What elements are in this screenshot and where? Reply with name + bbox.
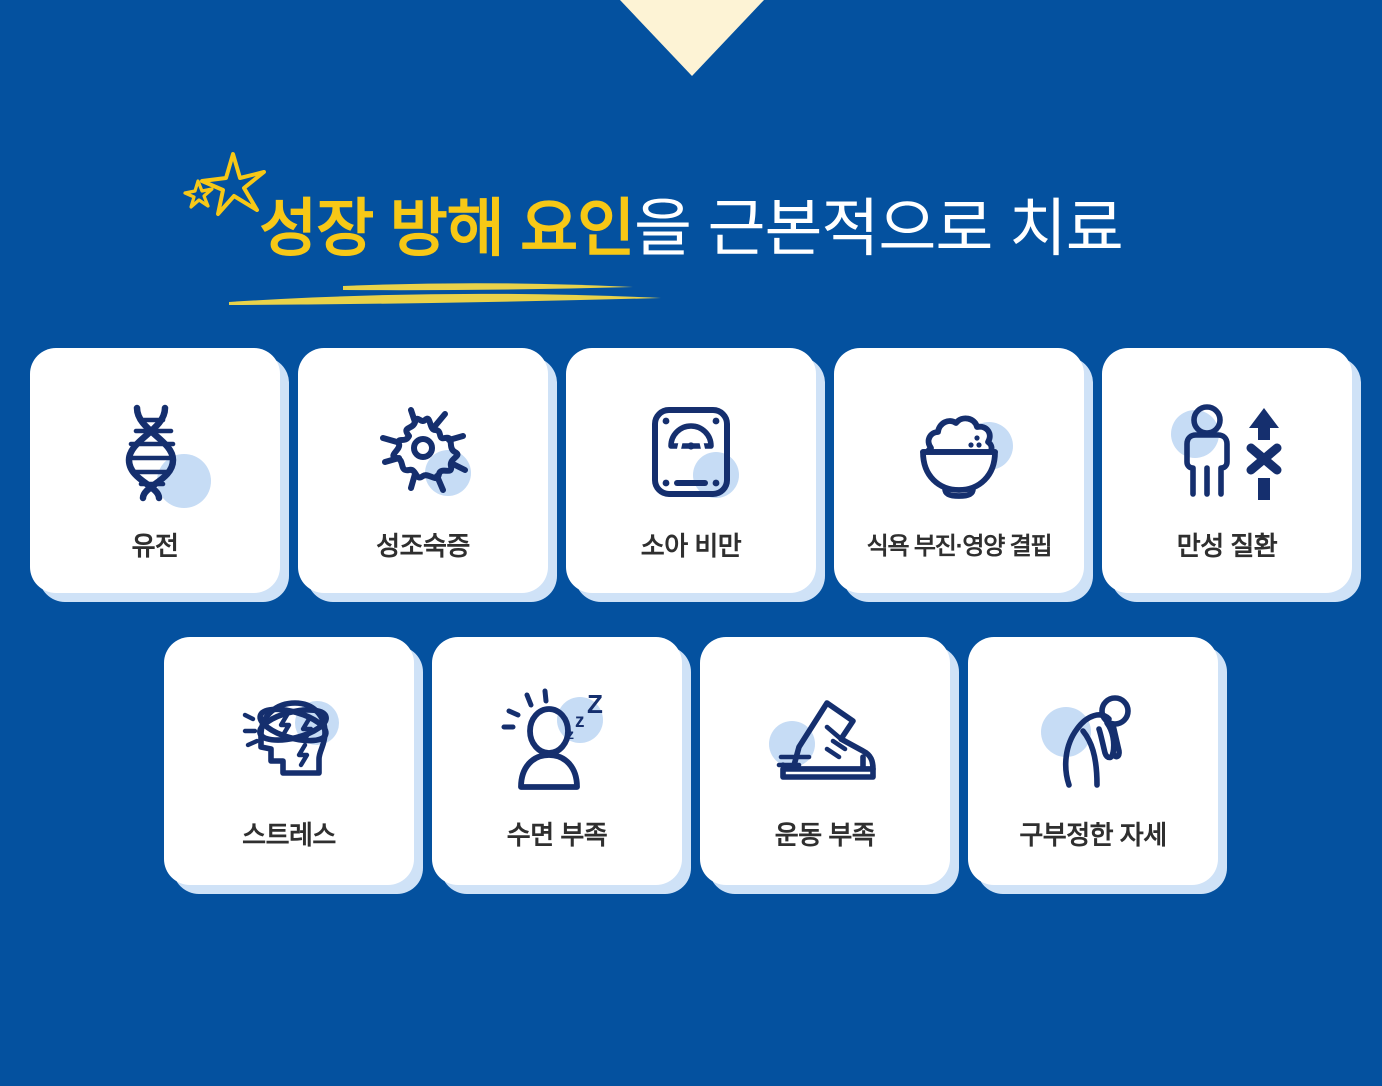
factor-card-sleep-deprivation[interactable]: Z z z 수면 부족 xyxy=(432,637,682,885)
factor-card-precocious-puberty[interactable]: 성조숙증 xyxy=(298,348,548,593)
title-block: 성장 방해 요인을 근본적으로 치료 xyxy=(0,150,1382,315)
slouching-person-icon xyxy=(1033,681,1153,801)
factor-row-1: 유전 성조숙증 xyxy=(0,348,1382,593)
title-rest-text: 을 근본적으로 치료 xyxy=(634,194,1123,264)
factor-card-lack-of-exercise[interactable]: 운동 부족 xyxy=(700,637,950,885)
dna-icon xyxy=(95,392,215,512)
underline-swoosh xyxy=(225,278,665,308)
weight-scale-icon xyxy=(631,392,751,512)
factor-card-label: 만성 질환 xyxy=(1177,526,1277,563)
factor-card-label: 수면 부족 xyxy=(507,815,607,852)
factor-card-stress[interactable]: 스트레스 xyxy=(164,637,414,885)
svg-text:z: z xyxy=(575,711,585,732)
factor-card-label: 식욕 부진·영양 결핍 xyxy=(867,526,1052,561)
svg-text:Z: Z xyxy=(587,689,603,719)
factor-card-chronic-disease[interactable]: 만성 질환 xyxy=(1102,348,1352,593)
sleeping-person-icon: Z z z xyxy=(497,681,617,801)
title-accent-text: 성장 방해 요인 xyxy=(259,194,634,264)
rice-bowl-icon xyxy=(899,392,1019,512)
factor-card-slouching-posture[interactable]: 구부정한 자세 xyxy=(968,637,1218,885)
page-title: 성장 방해 요인을 근본적으로 치료 xyxy=(0,198,1382,261)
top-notch-triangle xyxy=(620,0,764,76)
person-growth-blocked-icon xyxy=(1167,392,1287,512)
factor-card-label: 유전 xyxy=(132,526,179,563)
factor-row-2: 스트레스 Z z z 수면 부족 xyxy=(0,637,1382,885)
factor-card-appetite-nutrition[interactable]: 식욕 부진·영양 결핍 xyxy=(834,348,1084,593)
factor-card-label: 운동 부족 xyxy=(775,815,875,852)
factor-card-child-obesity[interactable]: 소아 비만 xyxy=(566,348,816,593)
factor-card-label: 구부정한 자세 xyxy=(1019,815,1166,852)
factor-card-label: 소아 비만 xyxy=(641,526,741,563)
neuron-icon xyxy=(363,392,483,512)
svg-text:z: z xyxy=(567,726,574,742)
sneaker-icon xyxy=(765,681,885,801)
factor-card-label: 스트레스 xyxy=(242,815,336,852)
factor-card-label: 성조숙증 xyxy=(376,526,470,563)
stressed-head-icon xyxy=(229,681,349,801)
infographic-canvas: 성장 방해 요인을 근본적으로 치료 유전 xyxy=(0,0,1382,1086)
factor-card-genetics[interactable]: 유전 xyxy=(30,348,280,593)
